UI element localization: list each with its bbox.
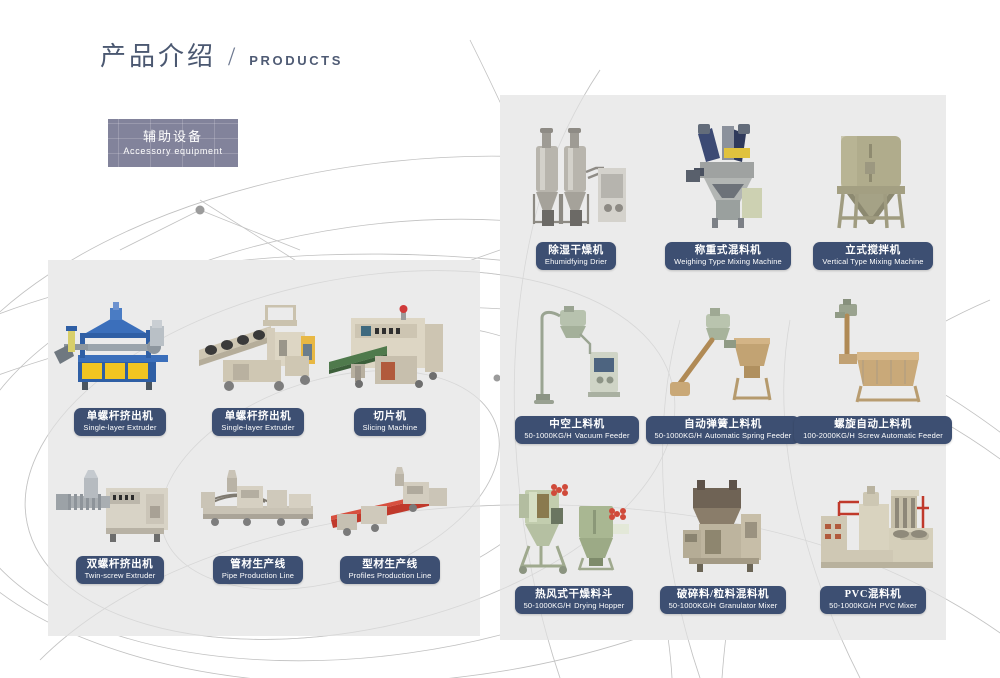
product-name-en: Pipe Production Line xyxy=(222,572,294,580)
page-title-cn: 产品介绍 xyxy=(100,44,216,70)
product-name-en: 100-2000KG/HScrew Automatic Feeder xyxy=(803,432,943,440)
product-name-cn: 型材生产线 xyxy=(349,559,432,571)
product-name-cn: 切片机 xyxy=(363,411,418,423)
product-label: 破碎料/粒料混料机 50-1000KG/HGranulator Mixer xyxy=(660,586,787,614)
product-label: 管材生产线 Pipe Production Line xyxy=(213,556,303,584)
product-name-en-text: Screw Automatic Feeder xyxy=(858,431,943,440)
machine-photo-weigh-mixer xyxy=(664,112,792,239)
machine-photo-pvc-mixer xyxy=(805,474,941,583)
machine-photo-twin-screw xyxy=(50,460,190,553)
product-name-en: Vertical Type Mixing Machine xyxy=(822,258,923,266)
product-label: 双螺杆挤出机 Twin-screw Extruder xyxy=(76,556,165,584)
product-capacity: 50-1000KG/H xyxy=(655,431,703,440)
product-name-cn: 单螺杆挤出机 xyxy=(221,411,294,423)
product-name-en: Slicing Machine xyxy=(363,424,418,432)
product-name-cn: 热风式干燥料斗 xyxy=(524,589,625,601)
machine-photo-slicer xyxy=(325,300,455,405)
product-capacity: 50-1000KG/H xyxy=(524,601,572,610)
product-name-cn: 除湿干燥机 xyxy=(545,245,607,257)
product-name-en-text: Automatic Spring Feeder xyxy=(705,431,791,440)
product-name-en: Twin-screw Extruder xyxy=(85,572,156,580)
machine-photo-pipe-line xyxy=(193,462,323,553)
product-item[interactable]: 热风式干燥料斗 50-1000KG/HDrying Hopper xyxy=(512,474,636,614)
product-name-en: Ehumidfying Drier xyxy=(545,258,607,266)
product-label: 热风式干燥料斗 50-1000KG/HDrying Hopper xyxy=(515,586,634,614)
product-label: 螺旋自动上料机 100-2000KG/HScrew Automatic Feed… xyxy=(794,416,952,444)
category-name-en: Accessory equipment xyxy=(123,145,222,158)
product-name-en: 50-1000KG/HVacuum Feeder xyxy=(524,432,629,440)
product-item[interactable]: 破碎料/粒料混料机 50-1000KG/HGranulator Mixer xyxy=(660,474,786,614)
product-name-cn: 管材生产线 xyxy=(222,559,294,571)
product-item[interactable]: 管材生产线 Pipe Production Line xyxy=(198,462,318,584)
machine-photo-granulator xyxy=(659,474,787,583)
product-label: 中空上料机 50-1000KG/HVacuum Feeder xyxy=(515,416,638,444)
machine-photo-vertical-mixer xyxy=(813,120,933,239)
product-item[interactable]: 单螺杆挤出机 Single-layer Extruder xyxy=(60,300,180,436)
product-label: 自动弹簧上料机 50-1000KG/HAutomatic Spring Feed… xyxy=(646,416,801,444)
product-capacity: 50-1000KG/H xyxy=(669,601,717,610)
machine-photo-drying-hopper xyxy=(511,474,637,583)
title-separator: / xyxy=(228,44,235,70)
product-item[interactable]: 除湿干燥机 Ehumidfying Drier xyxy=(520,122,632,270)
product-name-cn: 立式搅拌机 xyxy=(822,245,923,257)
product-label: PVC混料机 50-1000KG/HPVC Mixer xyxy=(820,586,926,614)
product-name-en: Single-layer Extruder xyxy=(83,424,156,432)
product-name-en-text: Vacuum Feeder xyxy=(575,431,630,440)
product-label: 立式搅拌机 Vertical Type Mixing Machine xyxy=(813,242,932,270)
machine-photo-extruder-blue xyxy=(50,300,190,405)
product-item[interactable]: 单螺杆挤出机 Single-layer Extruder xyxy=(198,300,318,436)
product-capacity: 50-1000KG/H xyxy=(829,601,877,610)
category-tag: 辅助设备 Accessory equipment xyxy=(108,119,238,167)
product-capacity: 50-1000KG/H xyxy=(524,431,572,440)
machine-photo-vacuum-feeder xyxy=(520,300,634,413)
product-name-en: 50-1000KG/HDrying Hopper xyxy=(524,602,625,610)
product-item[interactable]: PVC混料机 50-1000KG/HPVC Mixer xyxy=(806,474,940,614)
product-name-cn: 中空上料机 xyxy=(524,419,629,431)
product-name-en-text: PVC Mixer xyxy=(880,601,917,610)
product-name-cn: 自动弹簧上料机 xyxy=(655,419,792,431)
product-item[interactable]: 双螺杆挤出机 Twin-screw Extruder xyxy=(60,460,180,584)
product-label: 除湿干燥机 Ehumidfying Drier xyxy=(536,242,616,270)
product-name-en: 50-1000KG/HGranulator Mixer xyxy=(669,602,778,610)
product-label: 单螺杆挤出机 Single-layer Extruder xyxy=(212,408,303,436)
product-name-cn: PVC混料机 xyxy=(829,589,917,601)
category-name-cn: 辅助设备 xyxy=(143,128,203,146)
machine-photo-spring-feeder xyxy=(658,300,788,413)
product-item[interactable]: 型材生产线 Profiles Production Line xyxy=(330,462,450,584)
product-name-en-text: Granulator Mixer xyxy=(719,601,777,610)
product-label: 切片机 Slicing Machine xyxy=(354,408,427,436)
product-label: 称重式混料机 Weighing Type Mixing Machine xyxy=(665,242,791,270)
machine-photo-profile-line xyxy=(325,462,455,553)
product-name-en: Weighing Type Mixing Machine xyxy=(674,258,782,266)
product-label: 型材生产线 Profiles Production Line xyxy=(340,556,441,584)
machine-photo-sheet-line xyxy=(193,300,323,405)
product-name-cn: 破碎料/粒料混料机 xyxy=(669,589,778,601)
product-catalog-page: 产品介绍 / PRODUCTS 辅助设备 Accessory equipment xyxy=(0,0,1000,678)
page-title: 产品介绍 / PRODUCTS xyxy=(100,44,343,70)
product-item[interactable]: 切片机 Slicing Machine xyxy=(330,300,450,436)
product-name-cn: 单螺杆挤出机 xyxy=(83,411,156,423)
product-name-cn: 双螺杆挤出机 xyxy=(85,559,156,571)
product-name-en: Single-layer Extruder xyxy=(221,424,294,432)
product-name-cn: 称重式混料机 xyxy=(674,245,782,257)
product-item[interactable]: 立式搅拌机 Vertical Type Mixing Machine xyxy=(814,120,932,270)
product-item[interactable]: 螺旋自动上料机 100-2000KG/HScrew Automatic Feed… xyxy=(802,296,944,444)
product-name-en-text: Drying Hopper xyxy=(574,601,624,610)
product-name-en: 50-1000KG/HAutomatic Spring Feeder xyxy=(655,432,792,440)
product-capacity: 100-2000KG/H xyxy=(803,431,855,440)
product-item[interactable]: 中空上料机 50-1000KG/HVacuum Feeder xyxy=(522,300,632,444)
product-name-en: Profiles Production Line xyxy=(349,572,432,580)
product-name-en: 50-1000KG/HPVC Mixer xyxy=(829,602,917,610)
product-item[interactable]: 称重式混料机 Weighing Type Mixing Machine xyxy=(665,112,791,270)
product-name-cn: 螺旋自动上料机 xyxy=(803,419,943,431)
product-label: 单螺杆挤出机 Single-layer Extruder xyxy=(74,408,165,436)
machine-photo-drier xyxy=(518,122,634,239)
machine-photo-screw-feeder xyxy=(801,296,945,413)
product-item[interactable]: 自动弹簧上料机 50-1000KG/HAutomatic Spring Feed… xyxy=(660,300,786,444)
page-title-en: PRODUCTS xyxy=(249,53,343,70)
